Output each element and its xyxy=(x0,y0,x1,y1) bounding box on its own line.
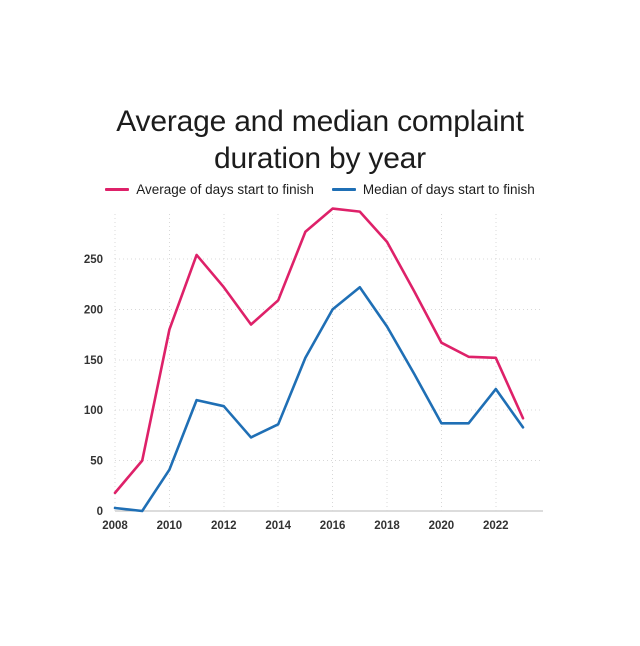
y-axis-tick-label: 50 xyxy=(90,456,103,468)
series-line-median xyxy=(115,287,523,511)
x-axis-tick-label: 2018 xyxy=(374,520,400,532)
x-axis-tick-label: 2016 xyxy=(320,520,346,532)
x-axis-tick-label: 2014 xyxy=(265,520,291,532)
gridlines xyxy=(115,214,543,511)
x-axis-tick-label: 2010 xyxy=(157,520,183,532)
x-axis-tick-label: 2020 xyxy=(429,520,455,532)
x-axis-tick-label: 2022 xyxy=(483,520,509,532)
y-axis-tick-label: 250 xyxy=(84,254,103,266)
y-axis-tick-label: 0 xyxy=(97,506,103,518)
y-axis-tick-label: 200 xyxy=(84,304,103,316)
chart-card: Average and median complaint duration by… xyxy=(0,0,640,646)
x-axis-tick-label: 2012 xyxy=(211,520,237,532)
x-axis-tick-label: 2008 xyxy=(102,520,128,532)
y-axis-tick-label: 150 xyxy=(84,355,103,367)
plot-area: 050100150200250 200820102012201420162018… xyxy=(0,0,640,646)
line-chart-svg: 050100150200250 200820102012201420162018… xyxy=(0,0,640,646)
y-axis-tick-label: 100 xyxy=(84,405,103,417)
y-axis-ticks: 050100150200250 xyxy=(84,254,103,518)
x-axis-ticks: 20082010201220142016201820202022 xyxy=(102,520,508,532)
